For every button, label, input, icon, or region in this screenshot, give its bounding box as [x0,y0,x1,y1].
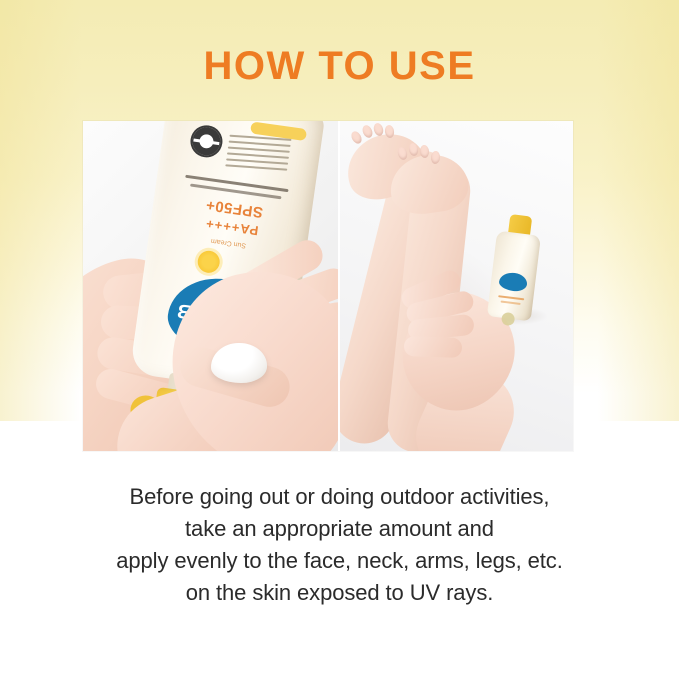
label-seal-icon [191,126,223,158]
caption-line-3: apply evenly to the face, neck, arms, le… [0,545,679,577]
caption-line-4: on the skin exposed to UV rays. [0,577,679,609]
sun-icon [196,249,221,274]
photo-applying-to-legs [338,121,573,451]
photo-dispensing-cream: SPF50+ PA++++ Sun Cream Derma:B [83,121,338,451]
caption-line-1: Before going out or doing outdoor activi… [0,481,679,513]
mini-label-line [498,295,524,300]
mini-label-line [501,301,521,305]
page-title: HOW TO USE [0,44,679,88]
applying-finger [404,336,463,358]
caption-line-2: take an appropriate amount and [0,513,679,545]
how-to-use-photo-board: SPF50+ PA++++ Sun Cream Derma:B [83,121,573,451]
page-background: HOW TO USE SPF50+ PA+++ [0,0,679,679]
instruction-caption: Before going out or doing outdoor activi… [0,481,679,609]
sunscreen-bottle-small [487,213,543,322]
label-fineprint [225,133,292,179]
mini-brand-logo-blob [498,271,528,292]
photo-divider [338,121,340,451]
cream-dollop [211,343,267,383]
